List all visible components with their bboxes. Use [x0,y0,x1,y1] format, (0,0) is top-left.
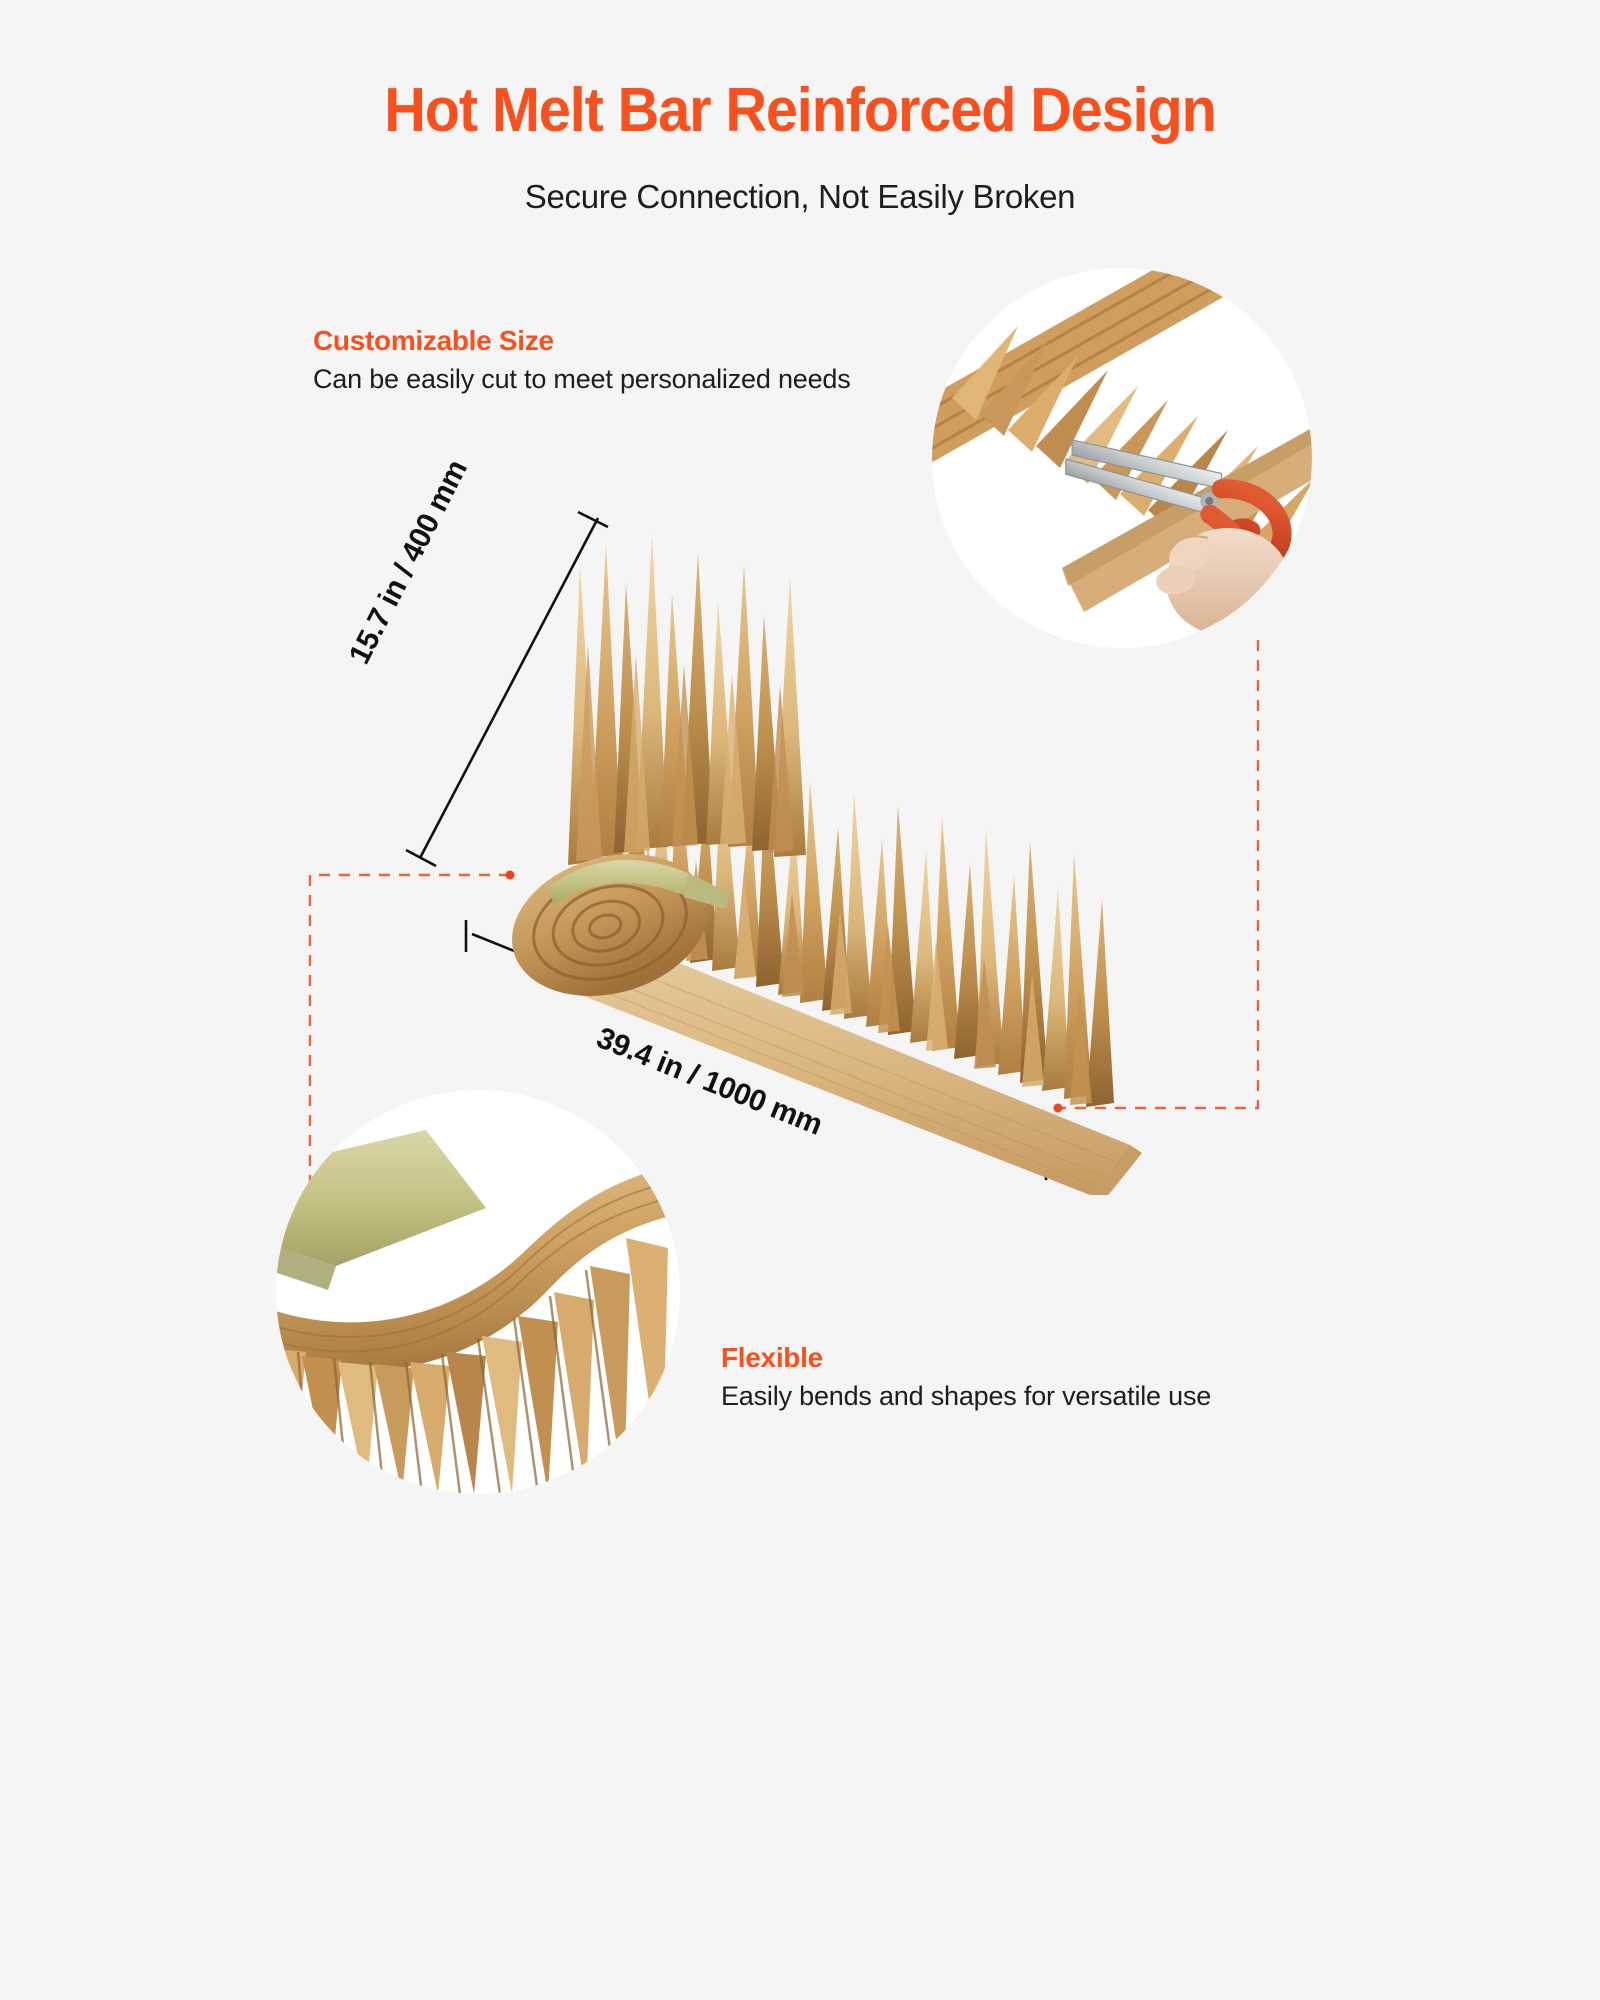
roll-fringe [568,535,806,865]
feature-customizable-size: Customizable Size Can be easily cut to m… [313,325,851,395]
feature-description: Easily bends and shapes for versatile us… [721,1381,1211,1412]
detail-circle-flexible-bend [276,1090,680,1494]
feature-flexible: Flexible Easily bends and shapes for ver… [721,1342,1211,1412]
feature-description: Can be easily cut to meet personalized n… [313,364,851,395]
feature-title: Flexible [721,1342,1211,1374]
feature-title: Customizable Size [313,325,851,357]
page-subtitle: Secure Connection, Not Easily Broken [180,178,1420,216]
infographic-page: Hot Melt Bar Reinforced Design Secure Co… [180,0,1420,2000]
detail-circle-scissors-cut [932,268,1312,648]
page-title: Hot Melt Bar Reinforced Design [223,78,1376,143]
